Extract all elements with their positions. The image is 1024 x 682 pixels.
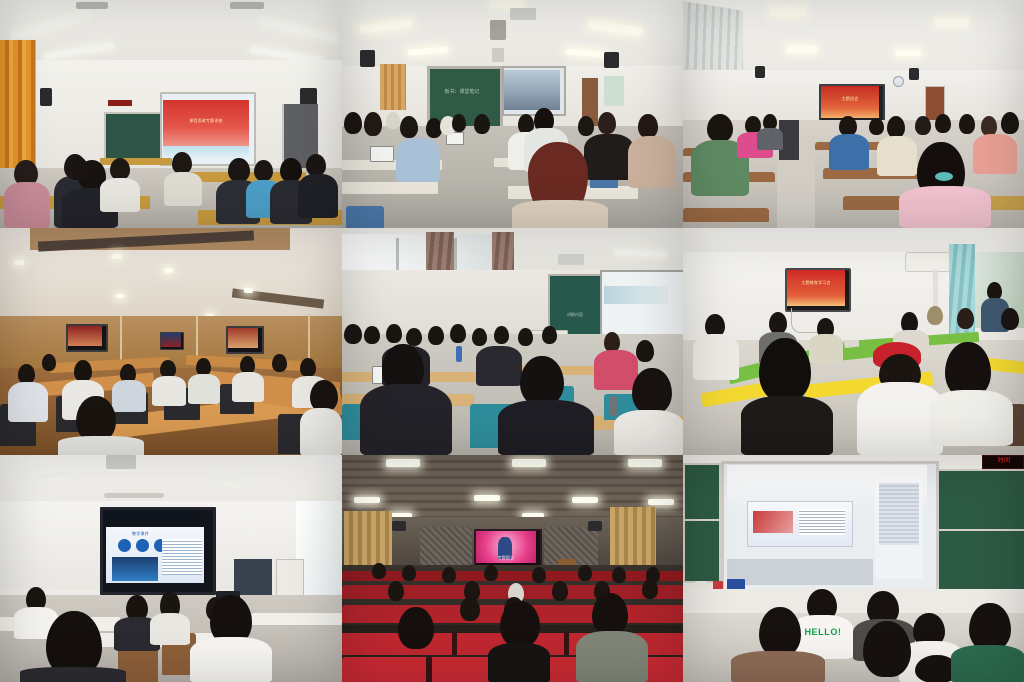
attendee-head-foreground — [759, 338, 811, 402]
ceiling-light — [116, 294, 124, 298]
student-body — [829, 134, 869, 170]
chalkboard-right-9 — [937, 529, 1024, 591]
taskbar-9 — [727, 559, 873, 585]
bench-row — [683, 208, 769, 222]
student-head — [452, 114, 466, 132]
attendee-head — [300, 358, 316, 377]
attendee-head — [1001, 308, 1019, 330]
audience-head — [402, 565, 416, 581]
student-head-foreground — [759, 607, 801, 657]
student-head — [472, 328, 487, 346]
attendee-head — [42, 354, 56, 371]
student-head — [406, 328, 422, 346]
audience-head-foreground — [398, 607, 434, 649]
ceiling-projector — [510, 8, 536, 20]
audience-head — [484, 565, 498, 581]
classroom-chair — [346, 206, 384, 228]
attendee-body — [188, 374, 220, 404]
student-head — [450, 324, 466, 343]
chalkboard-writing-2: 板书：课堂笔记 — [430, 88, 494, 95]
tv-power-cable-6 — [791, 308, 820, 333]
audience-body-foreground — [488, 643, 550, 682]
student-body — [100, 178, 140, 212]
wall-panel-wood-8 — [610, 507, 656, 569]
slide-content-3 — [821, 86, 879, 118]
audience-head — [460, 597, 480, 621]
ceiling-light — [386, 459, 420, 467]
student-body — [4, 182, 50, 228]
student-body — [150, 613, 190, 645]
slide-title-6: 主题教育学习会 — [787, 280, 845, 285]
student-head — [604, 332, 620, 352]
collage-cell-1[interactable]: 课程思政专题讲座 — [0, 0, 342, 228]
chalkboard-left-9 — [683, 463, 721, 521]
student-body — [877, 136, 917, 176]
ceiling-light — [512, 459, 546, 467]
student-body — [396, 138, 440, 182]
attendee-body — [693, 334, 739, 380]
classroom-table — [342, 182, 438, 194]
student-head — [428, 326, 444, 345]
audience-head-foreground — [592, 593, 628, 635]
student-body-foreground — [360, 384, 452, 455]
ceiling-light — [935, 18, 969, 26]
shirt-text-hello: HELLO! — [799, 627, 847, 637]
attendee-head — [272, 354, 287, 372]
audience-head — [578, 565, 592, 581]
student-head-foreground — [863, 621, 911, 677]
slide-text-block-9 — [799, 509, 845, 535]
student-body-foreground — [731, 651, 825, 682]
attendee-body — [232, 372, 264, 402]
ceiling-fan-2 — [230, 2, 264, 9]
wall-speaker-right — [588, 521, 602, 531]
wall-cabinet-7 — [276, 559, 304, 597]
audience-head — [532, 567, 546, 583]
student-head — [474, 114, 490, 134]
theatre-seat-row — [342, 571, 683, 581]
classroom-scene-3: 主题班会 — [683, 0, 1024, 228]
student-head — [598, 112, 616, 134]
student-head — [172, 152, 192, 174]
student-body-foreground — [498, 400, 594, 455]
ceiling-duct — [492, 48, 504, 62]
ceiling-light — [244, 288, 253, 293]
attendee-head — [927, 306, 943, 325]
ceiling-7 — [0, 455, 342, 505]
student-head — [542, 326, 557, 344]
slide-content-6 — [787, 270, 845, 306]
collage-cell-8[interactable]: 专题报告 — [342, 455, 683, 682]
sidebar-list-9 — [879, 483, 919, 545]
ceiling-projector-7 — [106, 455, 136, 469]
ceiling-fan-1 — [76, 2, 108, 9]
attendee-body — [809, 334, 843, 364]
student-head-foreground — [520, 356, 564, 406]
audience-head — [552, 581, 568, 601]
student-body — [584, 134, 634, 180]
slide-content-4b — [161, 333, 181, 347]
attendee-body — [112, 380, 146, 412]
attendee-head — [74, 360, 92, 382]
student-body — [298, 174, 338, 218]
student-head — [386, 324, 402, 343]
student-body — [757, 128, 783, 150]
student-head — [228, 158, 250, 182]
wall-clock-3 — [893, 76, 904, 87]
slide-icon-circle — [118, 539, 131, 552]
ceiling-light — [648, 499, 674, 505]
student-head — [869, 118, 884, 135]
attendee-head — [18, 364, 35, 384]
classroom-scene-9: 时间 HELLO! — [683, 455, 1024, 682]
classroom-scene-1: 课程思政专题讲座 — [0, 0, 342, 228]
student-body-foreground — [899, 186, 991, 228]
attendee-head — [769, 312, 787, 334]
wall-speaker-left — [40, 88, 52, 106]
wall-speaker-right — [909, 68, 919, 80]
wall-speaker-left — [755, 66, 765, 78]
student-head — [280, 158, 302, 182]
student-body-foreground — [20, 667, 126, 682]
attendee-body-foreground — [300, 408, 342, 455]
collage-cell-2[interactable]: 板书：课堂笔记 — [342, 0, 683, 228]
student-head — [935, 114, 951, 133]
wall-speaker-left — [360, 50, 375, 67]
student-head — [494, 326, 509, 344]
attendee-body-foreground — [741, 396, 833, 455]
student-head-foreground — [969, 603, 1011, 651]
ceiling-light — [769, 6, 807, 16]
audience-head-foreground — [500, 601, 540, 647]
seat-divider — [452, 631, 457, 655]
audience-head — [372, 563, 386, 579]
student-body — [594, 350, 638, 390]
led-clock-text-9: 时间 — [984, 457, 1024, 465]
ceiling-light — [14, 260, 24, 265]
audience-head — [388, 581, 404, 601]
student-head — [518, 328, 533, 346]
audience-head — [612, 567, 626, 583]
student-head — [344, 324, 362, 344]
collage-cell-6[interactable]: 主题教育学习会 — [683, 228, 1024, 455]
attendee-body — [8, 382, 48, 422]
attendee-body-foreground — [58, 436, 144, 455]
slide-content-2 — [504, 70, 560, 110]
classroom-scene-5: 讲解内容 — [342, 228, 683, 455]
chalkboard-5 — [548, 274, 606, 336]
window-curtain — [380, 64, 406, 110]
slide-list-block-7 — [162, 539, 202, 575]
slide-title-1: 课程思政专题讲座 — [163, 118, 249, 123]
lab-desk — [252, 613, 342, 625]
audience-head — [642, 579, 658, 599]
ceiling-light — [490, 0, 524, 8]
chalkboard-left-9 — [683, 519, 721, 583]
student-body-foreground — [512, 200, 608, 228]
student-head — [66, 156, 88, 180]
student-head — [110, 158, 130, 180]
student-head — [887, 116, 905, 138]
chalkboard-writing-5: 讲解内容 — [550, 312, 600, 318]
seminar-room-scene-6: 主题教育学习会 — [683, 228, 1024, 455]
ceiling-light — [164, 268, 173, 273]
student-head — [254, 160, 273, 181]
attendee-body-foreground — [929, 390, 1013, 446]
slide-title-8: 专题报告 — [476, 555, 536, 560]
slide-content-4a — [68, 326, 102, 346]
wall-poster-2 — [604, 76, 624, 106]
water-bottle — [610, 396, 617, 416]
student-body-foreground — [951, 645, 1024, 682]
slide-icon-circle — [136, 539, 149, 552]
student-head-foreground — [632, 368, 672, 414]
student-body — [628, 136, 676, 188]
tablet-device — [370, 146, 394, 162]
audience-body-foreground — [576, 631, 648, 682]
student-head — [636, 340, 654, 362]
wall-speaker-right — [604, 52, 619, 68]
chalkboard-1 — [104, 112, 163, 160]
collage-cell-9[interactable]: 时间 HELLO! — [683, 455, 1024, 682]
student-head — [839, 116, 857, 136]
computer-lab-scene-7: 教学课件 — [0, 455, 342, 682]
student-head — [364, 112, 382, 136]
ceiling-light — [354, 497, 380, 503]
student-body — [164, 172, 202, 206]
ceiling-light — [895, 50, 921, 56]
seat-divider — [426, 657, 432, 682]
wall-panel-wood-8 — [344, 511, 392, 567]
classroom-scene-2: 板书：课堂笔记 — [342, 0, 683, 228]
auditorium-scene-8: 专题报告 — [342, 455, 683, 682]
student-head — [386, 112, 400, 129]
slide-title-7: 教学课件 — [106, 531, 230, 536]
student-head — [959, 114, 975, 134]
air-conditioner-6 — [905, 252, 951, 272]
student-head — [638, 114, 658, 138]
student-head — [344, 112, 362, 134]
hair-tie-accessory — [935, 172, 953, 181]
attendee-body — [152, 376, 186, 406]
student-head — [364, 326, 380, 344]
student-body — [476, 346, 522, 386]
collage-cell-3[interactable]: 主题班会 — [683, 0, 1024, 228]
student-body — [973, 134, 1017, 174]
slide-graph-9 — [753, 511, 793, 533]
student-head — [1001, 112, 1019, 134]
slide-content-4c — [228, 328, 258, 348]
slide-content-1 — [163, 100, 249, 150]
chalkboard-right-9 — [937, 469, 1024, 531]
student-body-foreground — [614, 410, 683, 455]
wall-speaker-left — [392, 521, 406, 531]
student-head — [578, 116, 594, 136]
student-head — [707, 114, 733, 142]
ceiling-fan-7 — [104, 493, 164, 498]
photo-collage-grid: 课程思政专题讲座 — [0, 0, 1024, 682]
slide-image-block-7 — [112, 557, 158, 581]
conference-room-scene-4 — [0, 228, 342, 455]
ceiling-light — [112, 254, 122, 259]
window-curtain-orange — [0, 40, 36, 170]
student-head — [306, 154, 326, 176]
audience-head — [442, 567, 456, 583]
student-head — [400, 116, 418, 138]
attendee-head — [957, 308, 974, 329]
collage-cell-5[interactable]: 讲解内容 — [342, 228, 683, 455]
ceiling-light — [787, 46, 817, 53]
ceiling-light — [628, 459, 662, 467]
front-wall-9 — [683, 589, 1024, 615]
ceiling-light — [474, 495, 500, 501]
collage-cell-7[interactable]: 教学课件 — [0, 455, 342, 682]
red-led-strip-1 — [108, 100, 132, 106]
ceiling-duct — [490, 20, 506, 40]
seat-divider — [564, 631, 569, 655]
student-head — [981, 116, 997, 136]
student-body-foreground — [190, 637, 272, 682]
slide-title-3: 主题班会 — [821, 96, 879, 101]
student-head — [915, 116, 931, 135]
slide-content-5 — [604, 286, 668, 304]
wall-texture-left — [420, 527, 472, 569]
water-bottle — [456, 346, 462, 362]
ceiling-projector-5 — [558, 254, 584, 265]
ceiling-light — [572, 497, 598, 503]
collage-cell-4[interactable] — [0, 228, 342, 455]
